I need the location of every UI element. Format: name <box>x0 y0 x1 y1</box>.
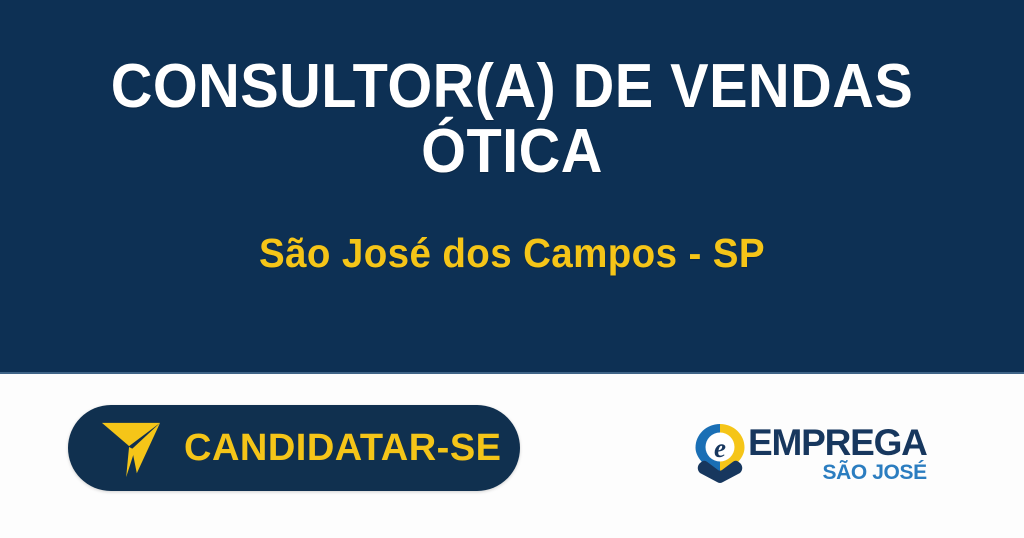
apply-button[interactable]: CANDIDATAR-SE <box>68 405 520 491</box>
hero-banner: Consultor(a) de Vendas Ótica São José do… <box>0 0 1024 374</box>
brand-wordmark: EMPREGA SÃO JOSÉ <box>748 425 927 482</box>
apply-button-label: CANDIDATAR-SE <box>184 427 502 470</box>
brand-logo[interactable]: e EMPREGA SÃO JOSÉ <box>694 421 904 487</box>
brand-name: EMPREGA <box>748 425 927 460</box>
page-title: Consultor(a) de Vendas Ótica <box>36 54 988 184</box>
brand-subtitle: SÃO JOSÉ <box>823 462 927 483</box>
job-location: São José dos Campos - SP <box>31 231 994 276</box>
location-pin-icon: e <box>694 423 746 485</box>
job-vacancy-card: Consultor(a) de Vendas Ótica São José do… <box>0 0 1024 538</box>
svg-text:e: e <box>714 433 726 463</box>
send-icon <box>100 417 162 479</box>
